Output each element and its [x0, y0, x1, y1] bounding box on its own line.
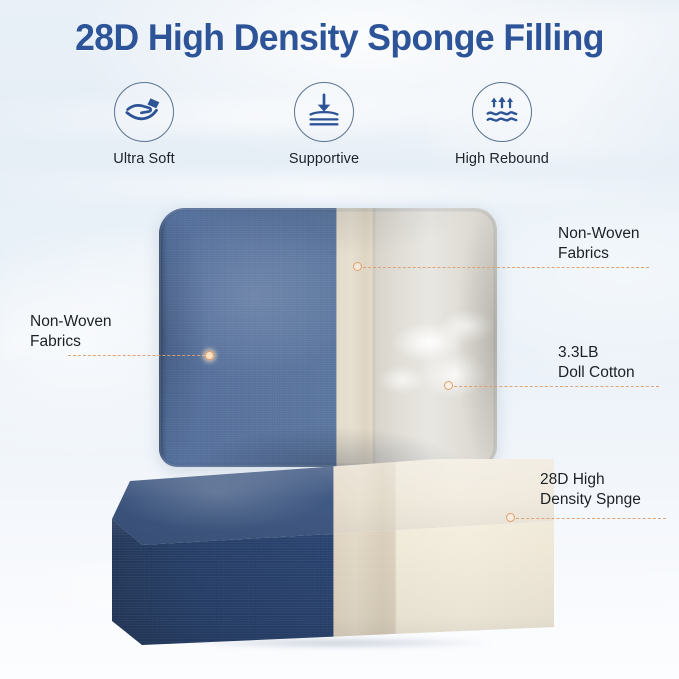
callout-high-density: 28D High Density Spnge — [540, 470, 641, 509]
leader-dot-high-density — [506, 513, 515, 522]
leader-line-left-non-woven — [68, 355, 210, 356]
seat-cushion — [112, 459, 554, 655]
leader-line-right-non-woven — [363, 267, 649, 268]
callout-right-non-woven: Non-Woven Fabrics — [558, 224, 640, 263]
leader-line-doll-cotton — [454, 386, 659, 387]
leader-dot-right-non-woven — [353, 262, 362, 271]
leader-line-high-density — [516, 518, 666, 519]
callout-line-2: Fabrics — [30, 332, 112, 352]
callout-line-1: Non-Woven — [30, 313, 112, 330]
leader-dot-doll-cotton — [444, 381, 453, 390]
callout-line-2: Doll Cotton — [558, 363, 635, 383]
callout-line-2: Fabrics — [558, 244, 640, 264]
back-pillow — [159, 208, 497, 467]
product-cutaway-illustration: Non-Woven Fabrics Non-Woven Fabrics 3.3L… — [0, 0, 679, 679]
infographic-canvas: 28D High Density Sponge Filling Ultra So… — [0, 0, 679, 679]
callout-line-1: 28D High — [540, 471, 605, 488]
callout-line-1: 3.3LB — [558, 344, 599, 361]
callout-line-2: Density Spnge — [540, 490, 641, 510]
callout-doll-cotton: 3.3LB Doll Cotton — [558, 343, 635, 382]
leader-dot-left-non-woven — [205, 351, 214, 360]
seat-drop-shadow — [118, 635, 558, 651]
callout-left-non-woven: Non-Woven Fabrics — [30, 312, 112, 351]
pillow-outline — [159, 208, 497, 467]
callout-line-1: Non-Woven — [558, 225, 640, 242]
